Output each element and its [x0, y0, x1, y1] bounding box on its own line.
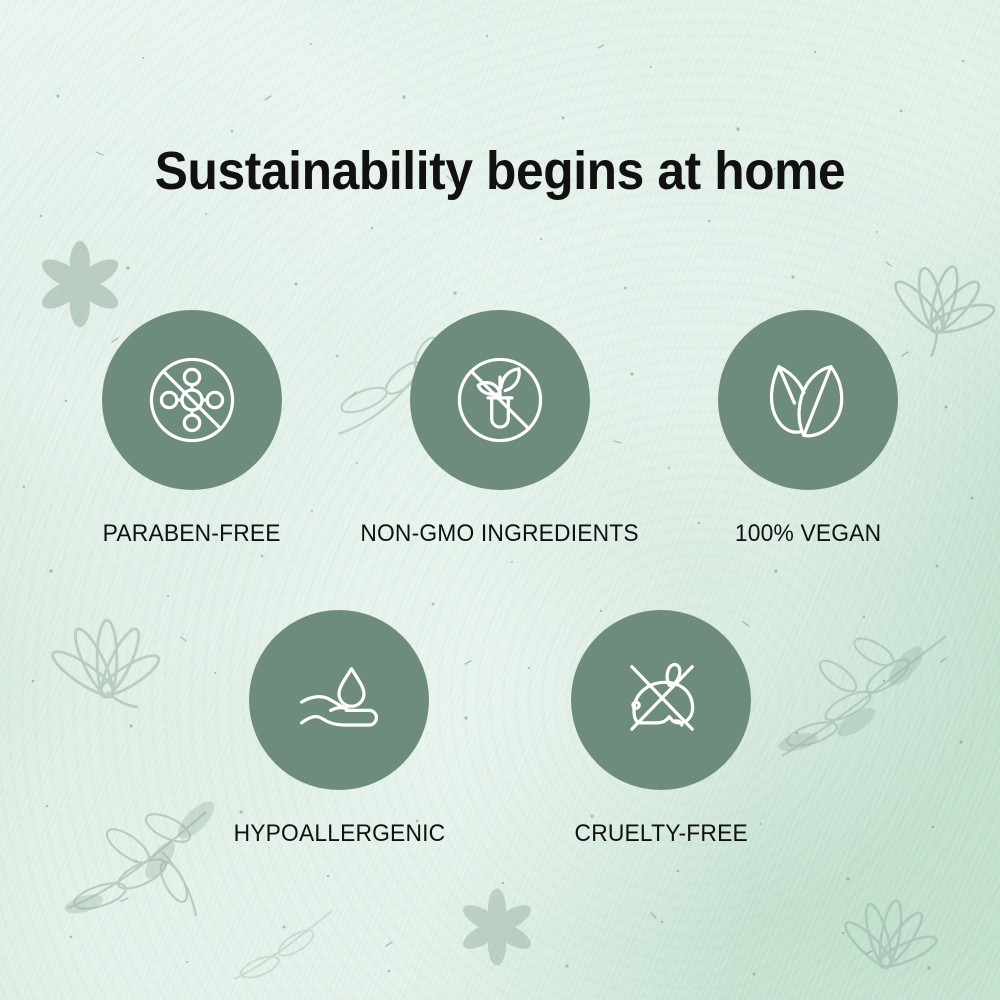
badge-icon-circle — [102, 310, 282, 490]
poster-canvas: Sustainability begins at home — [0, 0, 1000, 1000]
no-gmo-test-tube-sprout-icon — [448, 348, 552, 452]
badge-paraben-free[interactable]: PARABEN-FREE — [102, 310, 282, 548]
badge-icon-circle — [571, 610, 751, 790]
badge-non-gmo-ingredients[interactable]: NON-GMO INGREDIENTS — [410, 310, 590, 548]
badge-row-top: PARABEN-FREE — [0, 310, 1000, 548]
badge-100-percent-vegan[interactable]: 100% VEGAN — [718, 310, 898, 548]
badge-label: CRUELTY-FREE — [574, 820, 747, 848]
badge-label: NON-GMO INGREDIENTS — [361, 520, 639, 548]
badge-hypoallergenic[interactable]: HYPOALLERGENIC — [249, 610, 429, 848]
badge-cruelty-free[interactable]: CRUELTY-FREE — [571, 610, 751, 848]
badge-icon-circle — [410, 310, 590, 490]
no-paraben-molecule-icon — [140, 348, 244, 452]
badge-label: PARABEN-FREE — [103, 520, 281, 548]
page-title: Sustainability begins at home — [40, 140, 960, 202]
olive-branch-outline-mid-left — [228, 905, 348, 1000]
badge-icon-circle — [718, 310, 898, 490]
crossed-out-rabbit-icon — [609, 648, 713, 752]
badge-row-bottom: HYPOALLERGENIC — [0, 610, 1000, 848]
hand-water-droplet-icon — [287, 648, 391, 752]
badge-label: HYPOALLERGENIC — [233, 820, 445, 848]
palm-leaf-outline-bottom-right — [828, 880, 948, 990]
badge-icon-circle — [249, 610, 429, 790]
flower-silhouette-bottom-center — [456, 886, 538, 968]
badge-label: 100% VEGAN — [735, 520, 881, 548]
two-leaves-vegan-icon — [756, 348, 860, 452]
